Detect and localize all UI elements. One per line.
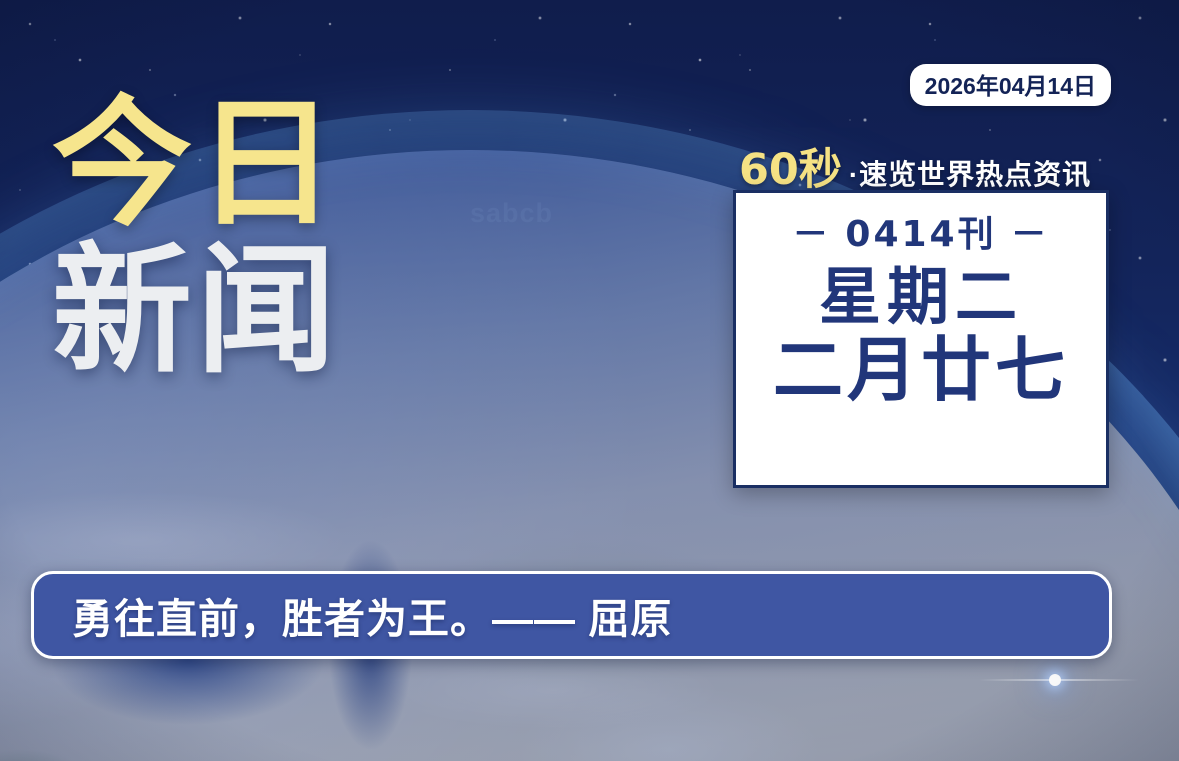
tagline: 60秒 ·速览世界热点资讯 [739,135,1091,197]
date-badge: 2026年04月14日 [910,64,1111,106]
news-poster: sabcb 今日 新闻 2026年04月14日 60秒 ·速览世界热点资讯 － … [0,0,1179,761]
date-info-card: － 0414刊 － 星期二 二月廿七 [733,190,1109,488]
issue-row: － 0414刊 － [792,205,1049,257]
bright-star-icon [1049,674,1061,686]
tagline-seconds: 60秒 [739,135,842,197]
quote-bar: 勇往直前，胜者为王。—— 屈原 [31,571,1112,659]
tagline-description: ·速览世界热点资讯 [849,153,1091,193]
lunar-date-label: 二月廿七 [773,334,1069,408]
issue-number: 0414刊 [845,205,996,257]
watermark-text: sabcb [470,198,553,229]
issue-dash-left: － [792,205,831,257]
poster-title: 今日 新闻 [52,96,340,381]
title-line-today: 今日 [52,96,340,235]
quote-text: 勇往直前，胜者为王。—— 屈原 [72,585,672,645]
weekday-label: 星期二 [819,265,1023,330]
issue-dash-right: － [1011,205,1050,257]
title-line-news: 新闻 [52,243,340,382]
